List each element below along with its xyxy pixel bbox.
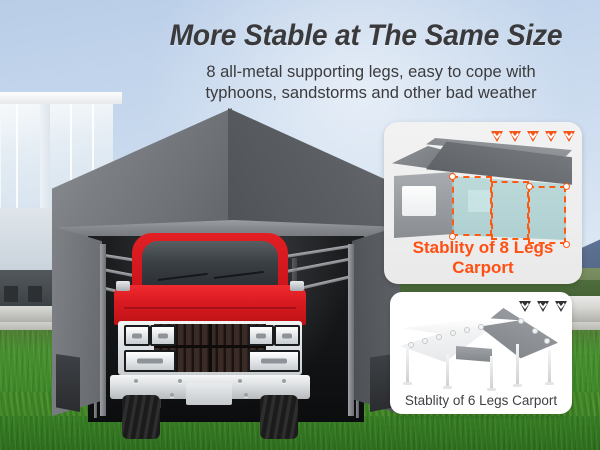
diamond-gem-icon (490, 130, 504, 143)
diamond-gem-icon (562, 130, 576, 143)
stability-highlight-bay (452, 176, 492, 236)
building-roof (0, 92, 122, 104)
page-title: More Stable at The Same Size (154, 18, 579, 54)
side-mirror-right (290, 281, 304, 291)
product-marketing-image: More Stable at The Same Size 8 all-metal… (0, 0, 600, 450)
bumper-bolt (238, 379, 242, 383)
bumper-bolt (134, 379, 138, 383)
frame-knob (436, 334, 442, 340)
bumper-bolt (170, 393, 174, 397)
mini6-leg (446, 354, 449, 386)
frame-knob (518, 318, 524, 324)
mini6-foot (403, 382, 412, 385)
eight-legs-card: Stablity of 8 Legs Carport (384, 122, 582, 284)
side-mirror-left (116, 281, 130, 291)
stability-highlight-bay (491, 181, 529, 240)
window-mullion (16, 104, 18, 208)
six-legs-carport-illustration (398, 306, 564, 388)
diamond-gem-icon (554, 300, 568, 313)
grille-center-divider (209, 324, 212, 372)
headlight-icon (274, 325, 300, 346)
leg-anchor-point (563, 183, 570, 190)
building-column (40, 104, 50, 208)
bumper-bolt (282, 379, 286, 383)
carport-roof-left-slope (52, 108, 232, 238)
frame-knob (450, 330, 456, 336)
turn-signal-icon (124, 350, 176, 372)
six-legs-rating (518, 300, 568, 313)
mini6-leg (406, 346, 409, 382)
carport-leg (348, 244, 354, 416)
eight-legs-carport-illustration (390, 138, 576, 248)
leg-anchor-point (449, 173, 456, 180)
bumper-bolt (244, 393, 248, 397)
red-pickup-truck (110, 233, 310, 417)
frame-knob (532, 328, 538, 334)
headlight-icon (248, 325, 274, 346)
mini6-leg (548, 350, 551, 382)
mini-front-window (402, 186, 436, 216)
headlight-icon (150, 325, 176, 346)
truck-tire-right (260, 395, 298, 439)
six-legs-card: Stablity of 6 Legs Carport (390, 292, 572, 414)
subtitle-line-1: 8 all-metal supporting legs, easy to cop… (150, 62, 592, 83)
subtitle: 8 all-metal supporting legs, easy to cop… (150, 62, 592, 104)
mini6-foot (545, 382, 554, 385)
frame-knob (422, 338, 428, 344)
mini6-leg (516, 344, 519, 384)
eight-legs-rating (490, 130, 576, 143)
diamond-gem-icon (526, 130, 540, 143)
diamond-gem-icon (544, 130, 558, 143)
frame-knob (464, 327, 470, 333)
frame-knob (544, 338, 550, 344)
carport-roof-right-slope (228, 108, 400, 238)
truck-tire-left (122, 395, 160, 439)
subtitle-line-2: typhoons, sandstorms and other bad weath… (150, 83, 592, 104)
diamond-gem-icon (518, 300, 532, 313)
mini6-shade-panel (456, 346, 492, 362)
six-legs-caption: Stablity of 6 Legs Carport (390, 393, 572, 408)
license-plate (186, 383, 232, 405)
carport-anchor-flap-left (56, 354, 80, 412)
diamond-gem-icon (508, 130, 522, 143)
mini6-foot (443, 386, 452, 389)
eight-legs-caption: Stablity of 8 Legs Carport (384, 238, 582, 278)
bumper-bolt (178, 379, 182, 383)
carport-leg (100, 244, 106, 416)
leg-anchor-point (526, 183, 533, 190)
truck-hood (114, 285, 306, 325)
stability-highlight-bay (528, 186, 566, 244)
headlight-icon (124, 325, 150, 346)
hood-seam (124, 307, 296, 309)
turn-signal-icon (248, 350, 300, 372)
frame-knob (478, 324, 484, 330)
mini6-foot (513, 384, 522, 387)
diamond-gem-icon (536, 300, 550, 313)
mini6-foot (487, 388, 496, 391)
mini6-leg (490, 356, 493, 388)
